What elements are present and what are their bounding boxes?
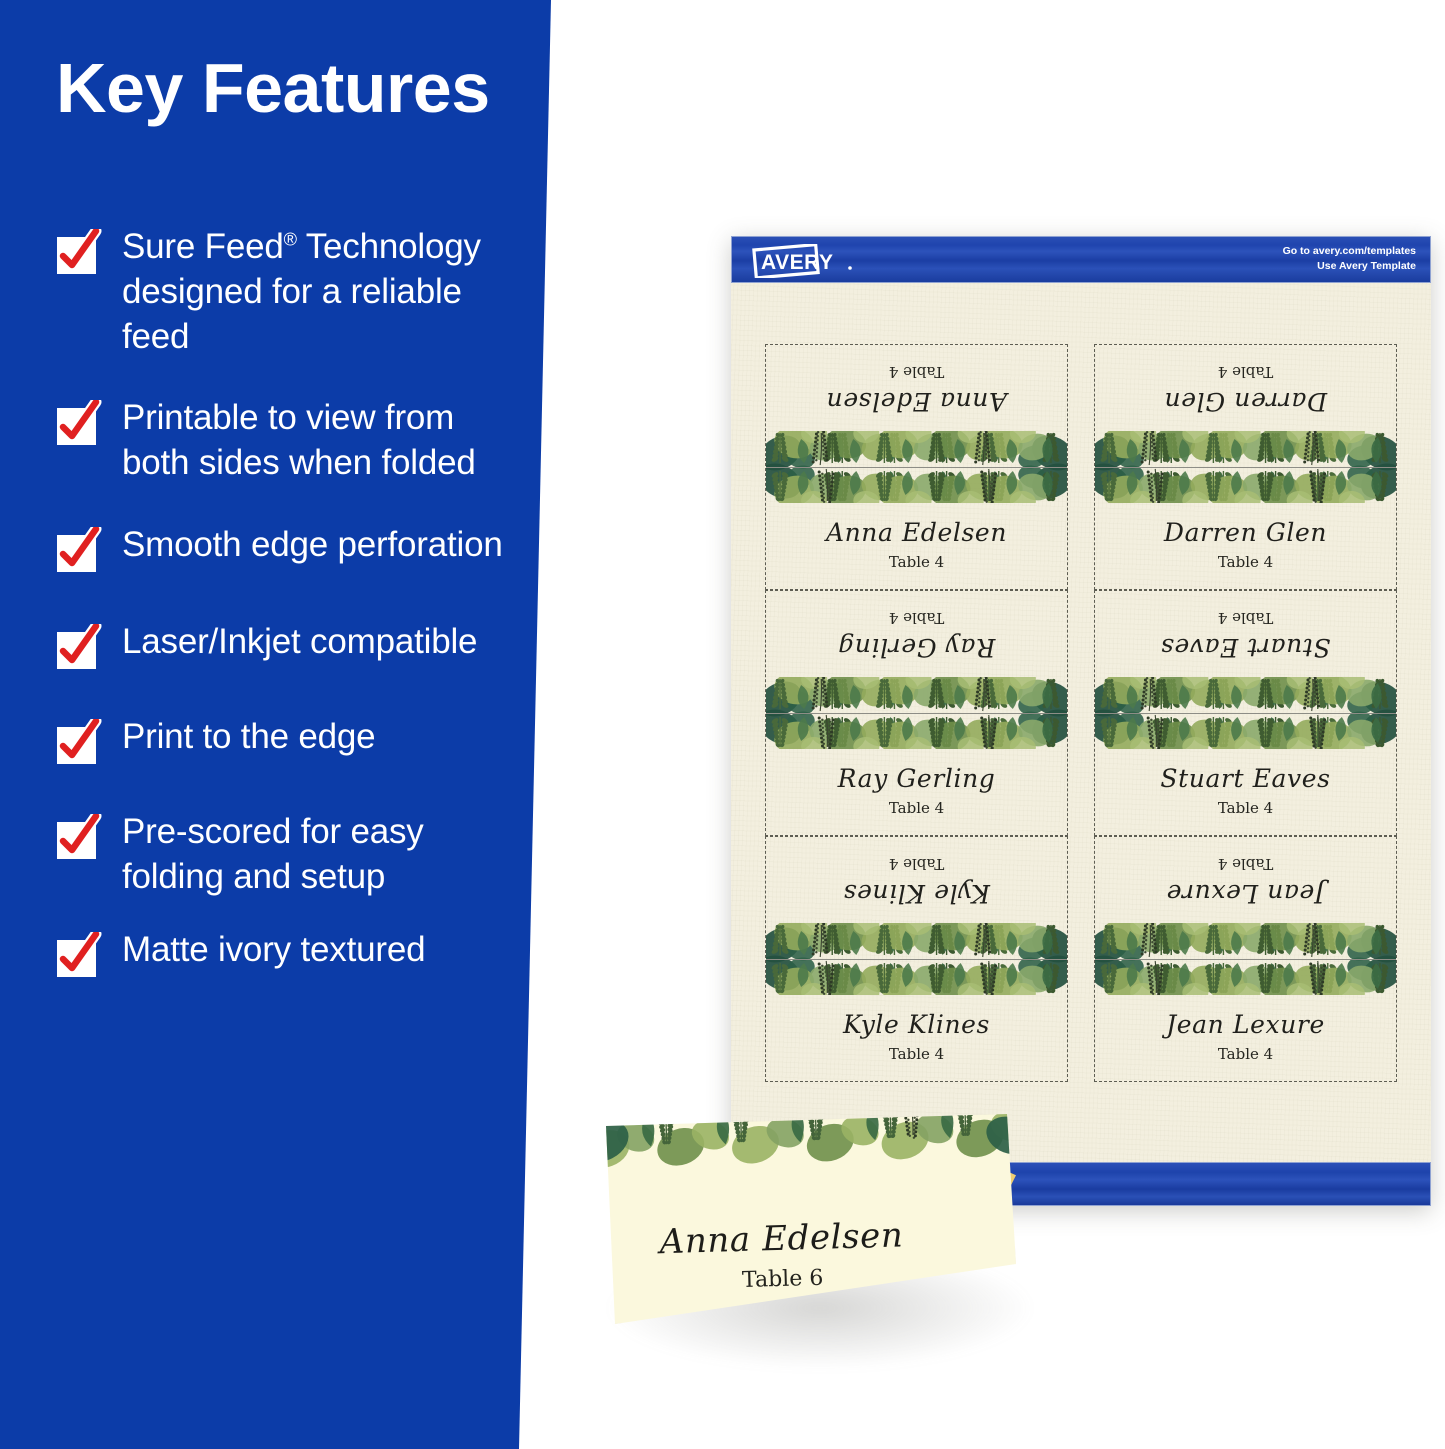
avery-logo: AVERY — [749, 244, 879, 283]
card-half-upright: Darren Glen Table 4 — [1095, 467, 1396, 589]
card-half-mirrored: Darren Glen Table 4 — [1095, 345, 1396, 467]
card-table: Table 4 — [766, 609, 1067, 627]
feature-item: Sure Feed® Technology designed for a rel… — [57, 225, 527, 359]
feature-item: Pre-scored for easy folding and setup — [57, 810, 527, 900]
place-card: Stuart Eaves Table 4 Stuart Eaves Table … — [1094, 590, 1397, 836]
place-card: Darren Glen Table 4 Darren Glen Table 4 — [1094, 344, 1397, 590]
fold-line — [1095, 467, 1396, 468]
feature-item: Matte ivory textured — [57, 928, 527, 977]
card-half-upright: Kyle Klines Table 4 — [766, 959, 1067, 1081]
avery-template-sheet: AVERY Go to avery.com/templates Use Aver… — [731, 236, 1431, 1206]
card-name: Stuart Eaves — [1095, 633, 1396, 662]
card-half-upright: Stuart Eaves Table 4 — [1095, 713, 1396, 835]
folded-place-card: Anna Edelsen Table 6 — [600, 1108, 1080, 1388]
checkbox-check-icon — [57, 816, 100, 859]
fold-line — [1095, 713, 1396, 714]
fold-line — [766, 713, 1067, 714]
card-name: Kyle Klines — [766, 879, 1067, 908]
card-table: Table 4 — [766, 553, 1067, 571]
page-title: Key Features — [56, 52, 490, 126]
card-name: Stuart Eaves — [1095, 764, 1396, 793]
card-half-upright: Anna Edelsen Table 4 — [766, 467, 1067, 589]
card-half-mirrored: Kyle Klines Table 4 — [766, 837, 1067, 959]
card-table: Table 4 — [766, 1045, 1067, 1063]
feature-item: Print to the edge — [57, 715, 527, 764]
place-card: Ray Gerling Table 4 Ray Gerling Table 4 — [765, 590, 1068, 836]
card-name: Ray Gerling — [766, 633, 1067, 662]
card-half-mirrored: Jean Lexure Table 4 — [1095, 837, 1396, 959]
card-name: Kyle Klines — [766, 1010, 1067, 1039]
card-table: Table 4 — [1095, 1045, 1396, 1063]
feature-label: Laser/Inkjet compatible — [122, 620, 477, 665]
checkbox-check-icon — [57, 529, 100, 572]
card-table: Table 4 — [1095, 609, 1396, 627]
fold-line — [766, 467, 1067, 468]
card-half-mirrored: Anna Edelsen Table 4 — [766, 345, 1067, 467]
place-card: Anna Edelsen Table 4 Anna Edelsen Table … — [765, 344, 1068, 590]
checkbox-check-icon — [57, 721, 100, 764]
card-name: Anna Edelsen — [606, 1214, 957, 1264]
feature-item: Printable to view from both sides when f… — [57, 396, 527, 486]
checkbox-check-icon — [57, 934, 100, 977]
card-name: Darren Glen — [1095, 387, 1396, 416]
card-table: Table 4 — [766, 799, 1067, 817]
card-table: Table 4 — [1095, 553, 1396, 571]
card-name: Anna Edelsen — [766, 518, 1067, 547]
greenery-border-icon — [606, 1114, 1016, 1202]
card-table: Table 4 — [1095, 855, 1396, 873]
feature-list: Sure Feed® Technology designed for a rel… — [57, 225, 527, 1014]
card-name: Jean Lexure — [1095, 1010, 1396, 1039]
card-table: Table 4 — [766, 855, 1067, 873]
place-card: Kyle Klines Table 4 Kyle Klines Table 4 — [765, 836, 1068, 1082]
card-name: Anna Edelsen — [766, 387, 1067, 416]
feature-label: Sure Feed® Technology designed for a rel… — [122, 225, 527, 359]
feature-label: Smooth edge perforation — [122, 523, 503, 568]
card-half-mirrored: Ray Gerling Table 4 — [766, 591, 1067, 713]
card-half-upright: Ray Gerling Table 4 — [766, 713, 1067, 835]
card-name: Jean Lexure — [1095, 879, 1396, 908]
feature-label: Print to the edge — [122, 715, 375, 760]
place-card-grid: Anna Edelsen Table 4 Anna Edelsen Table … — [765, 344, 1397, 1082]
feature-label: Printable to view from both sides when f… — [122, 396, 527, 486]
template-link-line2[interactable]: Use Avery Template — [1283, 259, 1416, 274]
sheet-header-bar: AVERY Go to avery.com/templates Use Aver… — [731, 236, 1431, 283]
svg-text:AVERY: AVERY — [761, 251, 834, 274]
card-half-mirrored: Stuart Eaves Table 4 — [1095, 591, 1396, 713]
checkbox-check-icon — [57, 231, 100, 274]
card-table: Table 4 — [766, 363, 1067, 381]
feature-label: Matte ivory textured — [122, 928, 425, 973]
card-table: Table 4 — [1095, 363, 1396, 381]
product-feature-image: AVERY Go to avery.com/templates Use Aver… — [0, 0, 1445, 1449]
card-name: Ray Gerling — [766, 764, 1067, 793]
checkbox-check-icon — [57, 402, 100, 445]
card-name: Darren Glen — [1095, 518, 1396, 547]
fold-line — [766, 959, 1067, 960]
card-table: Table 4 — [1095, 799, 1396, 817]
template-links[interactable]: Go to avery.com/templates Use Avery Temp… — [1283, 244, 1416, 274]
feature-label: Pre-scored for easy folding and setup — [122, 810, 527, 900]
feature-item: Smooth edge perforation — [57, 523, 527, 572]
template-link-line1[interactable]: Go to avery.com/templates — [1283, 244, 1416, 259]
fold-line — [1095, 959, 1396, 960]
feature-item: Laser/Inkjet compatible — [57, 620, 527, 669]
place-card: Jean Lexure Table 4 Jean Lexure Table 4 — [1094, 836, 1397, 1082]
key-features-panel: Key Features Sure Feed® Technology desig… — [0, 0, 560, 1449]
card-half-upright: Jean Lexure Table 4 — [1095, 959, 1396, 1081]
checkbox-check-icon — [57, 626, 100, 669]
